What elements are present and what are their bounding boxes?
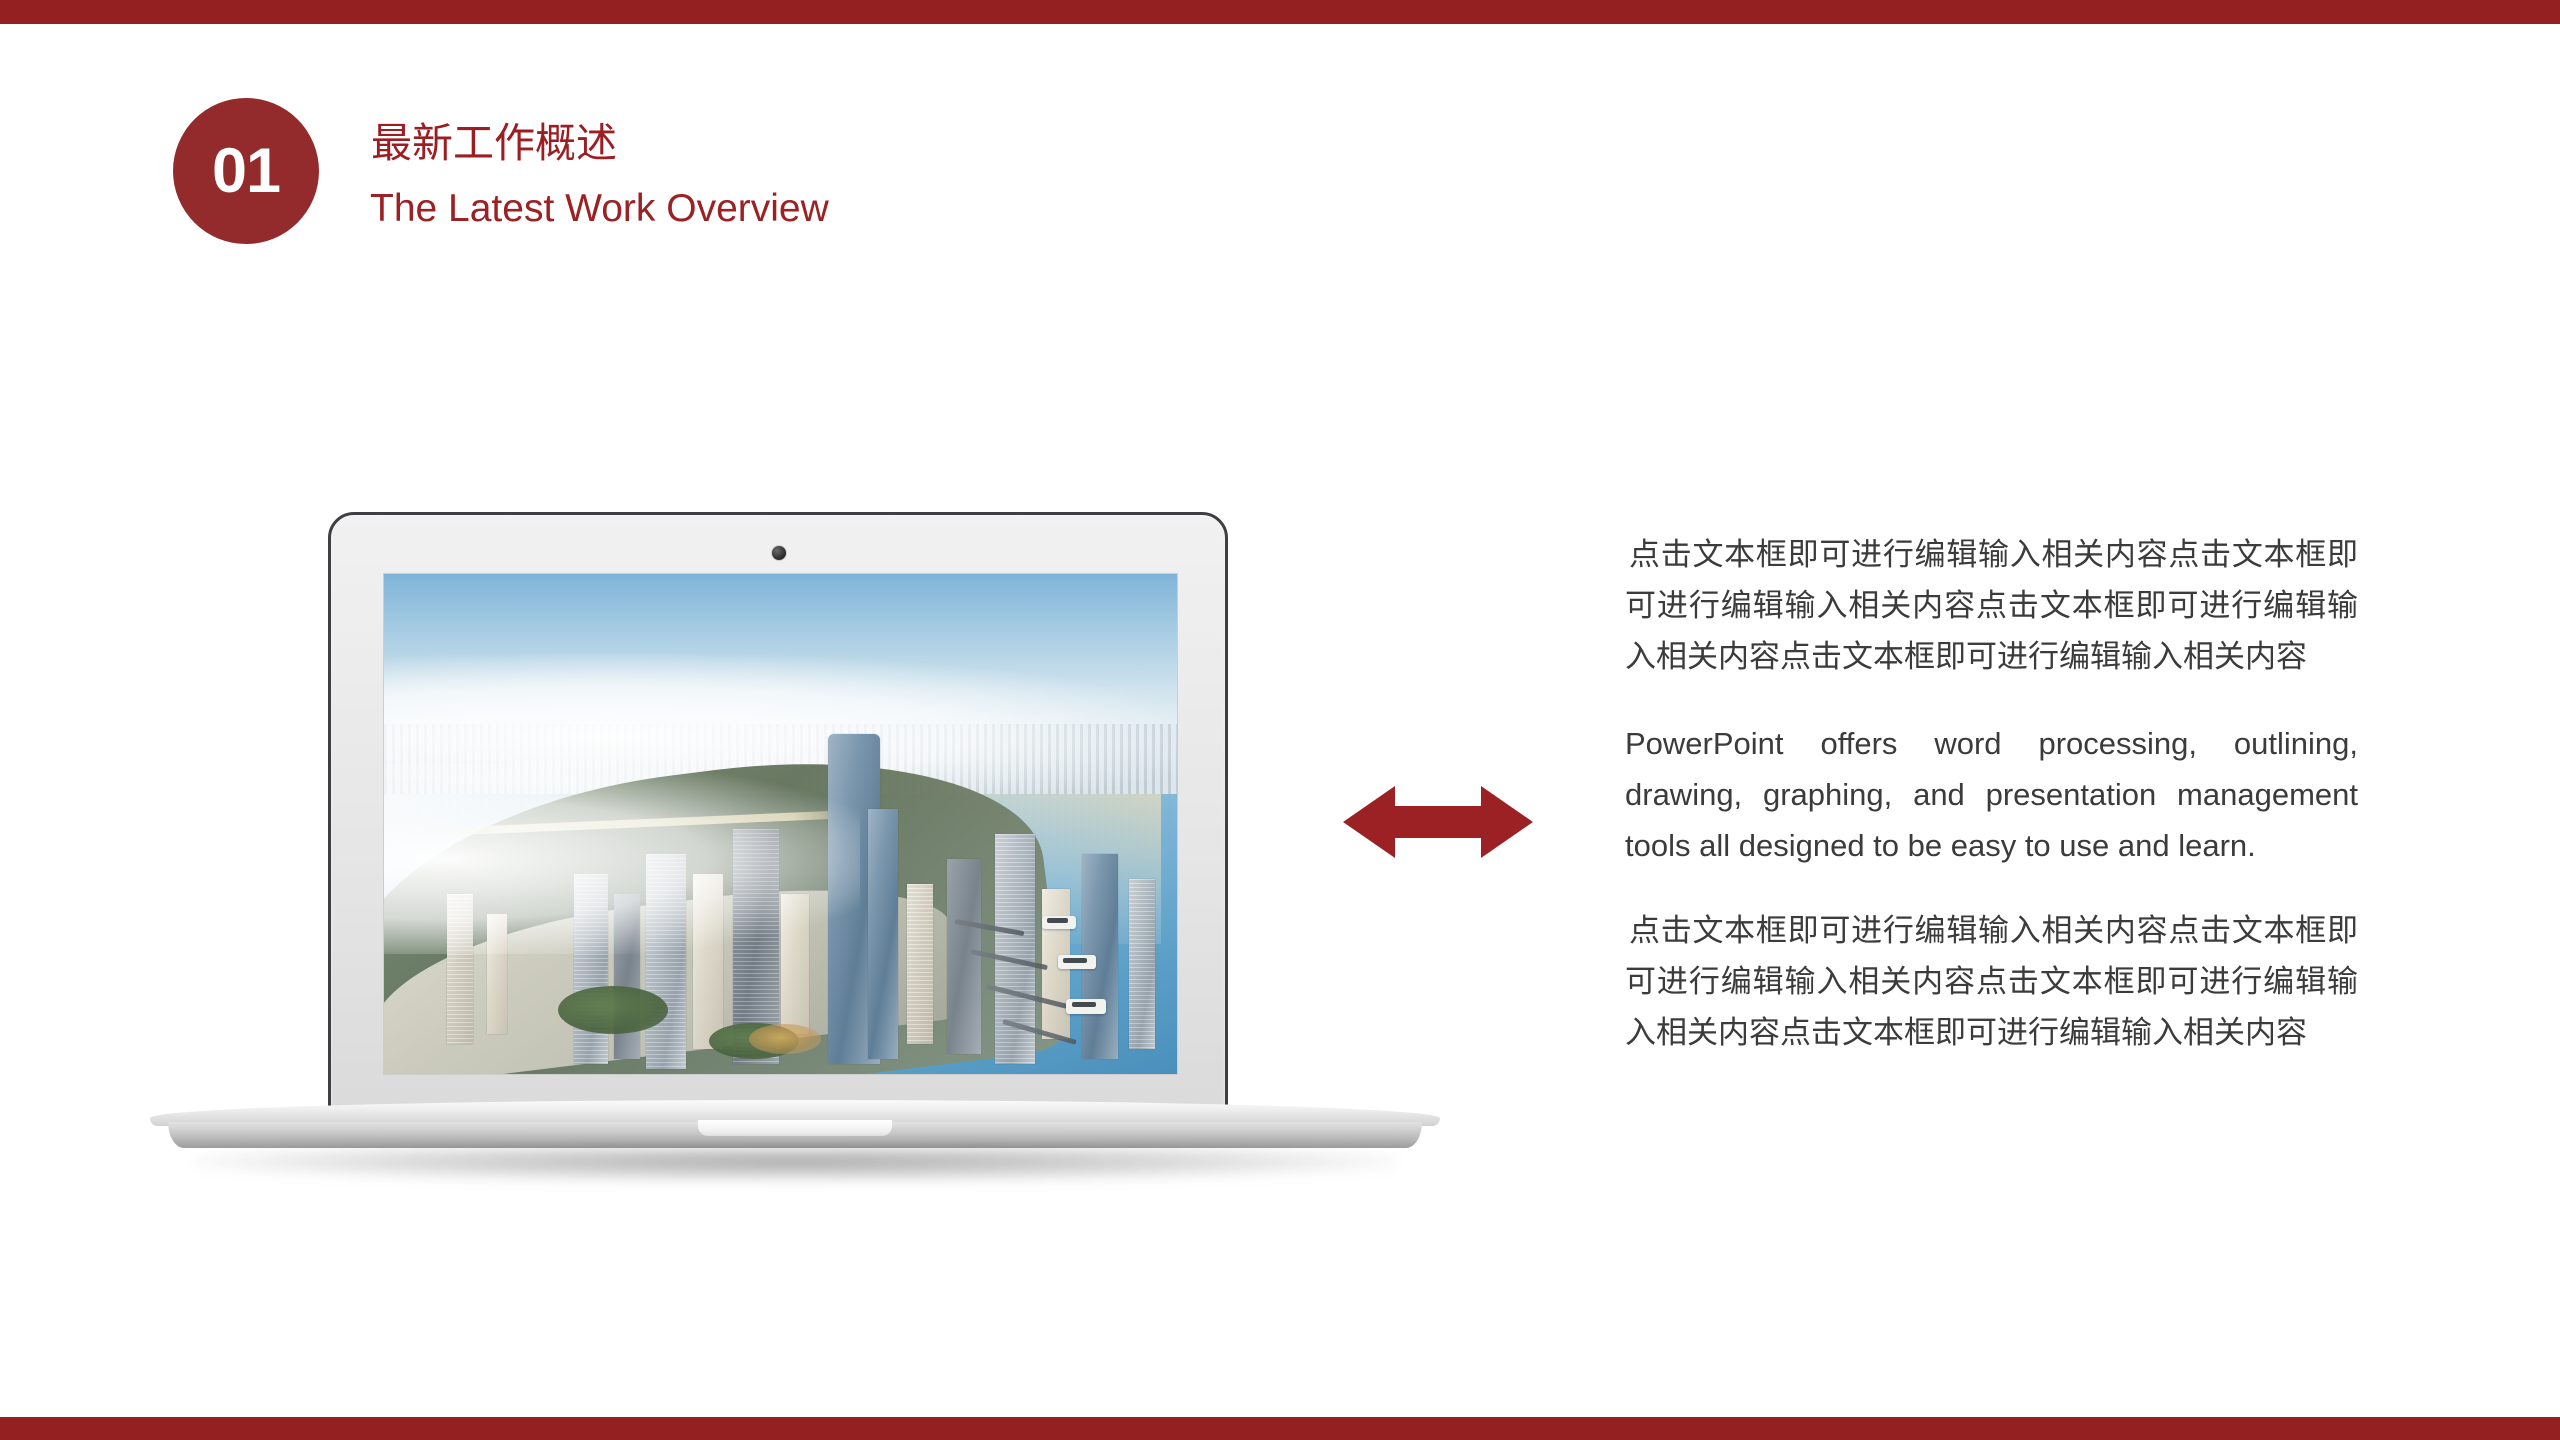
- boat: [1066, 999, 1106, 1014]
- page-title-cn: 最新工作概述: [371, 120, 617, 167]
- laptop-base-front: [168, 1122, 1422, 1148]
- bottom-accent-bar: [0, 1417, 2560, 1440]
- haze-layer-left: [383, 764, 860, 954]
- page-title-en: The Latest Work Overview: [370, 187, 829, 232]
- boat: [1042, 916, 1076, 929]
- tower: [947, 859, 981, 1054]
- tower: [868, 809, 898, 1059]
- laptop-lid: [328, 512, 1228, 1122]
- tower: [1129, 879, 1155, 1049]
- tower: [907, 884, 933, 1044]
- laptop-mockup: [150, 500, 1440, 1190]
- laptop-base-notch: [698, 1120, 892, 1136]
- paragraph-cn-1: 点击文本框即可进行编辑输入相关内容点击文本框即可进行编辑输入相关内容点击文本框即…: [1625, 530, 2358, 683]
- webcam-icon: [771, 545, 787, 561]
- boat: [1058, 955, 1096, 969]
- double-arrow-connector: [1343, 786, 1533, 858]
- laptop-screen: [383, 573, 1178, 1075]
- laptop-drop-shadow: [194, 1148, 1396, 1182]
- double-headed-arrow-icon: [1343, 786, 1533, 858]
- cityscape-image: [384, 574, 1177, 1074]
- plaza: [749, 1024, 821, 1054]
- paragraph-cn-2: 点击文本框即可进行编辑输入相关内容点击文本框即可进行编辑输入相关内容点击文本框即…: [1625, 906, 2358, 1059]
- paragraph-en: PowerPoint offers word processing, outli…: [1625, 718, 2358, 871]
- section-number-label: 01: [212, 140, 280, 203]
- body-copy-column: 点击文本框即可进行编辑输入相关内容点击文本框即可进行编辑输入相关内容点击文本框即…: [1625, 530, 2358, 1059]
- slide-header: 01 最新工作概述 The Latest Work Overview: [0, 0, 2560, 300]
- park-green: [558, 986, 668, 1034]
- section-number-badge: 01: [173, 98, 319, 244]
